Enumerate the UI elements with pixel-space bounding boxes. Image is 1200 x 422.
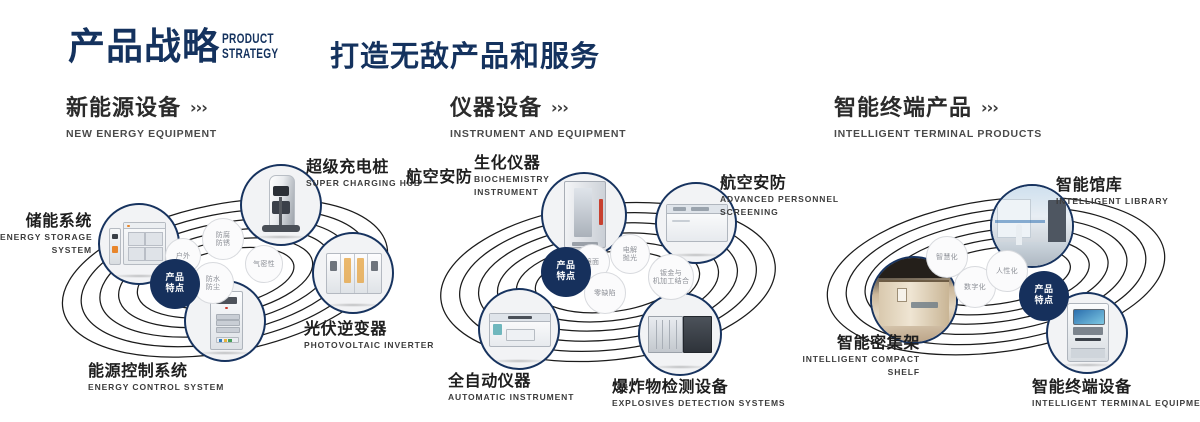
core-badge-product-features: 产品 特点 — [151, 260, 199, 308]
node-label-en-line2: INSTRUMENT — [474, 187, 550, 198]
node-label-en-line2: SHELF — [740, 367, 920, 378]
node-label-super-charging-hub: 超级充电桩 SUPER CHARGING HUB — [306, 158, 421, 189]
node-explosives-detection-systems[interactable] — [638, 292, 722, 376]
core-badge-line1: 产品 — [1034, 285, 1053, 296]
page-title-en: PRODUCT STRATEGY — [222, 31, 278, 61]
feature-label: 数字化 — [964, 283, 986, 292]
section-title-cn: 智能终端产品››› — [834, 96, 1042, 121]
label-cn: 航空安防 — [406, 168, 472, 186]
section-title-text: 仪器设备 — [450, 96, 542, 121]
cluster-new-energy: 储能系统 ENERGY STORAGE SYSTEM 超级充电桩 SUPER C… — [40, 150, 420, 400]
page-title: 产品战略 — [68, 26, 220, 68]
core-badge-line1: 产品 — [165, 273, 184, 284]
section-title-text: 新能源设备 — [66, 96, 181, 121]
feature-label-line2: 抛光 — [623, 254, 638, 263]
node-label-en-line1: EXPLOSIVES DETECTION SYSTEMS — [612, 398, 786, 409]
node-label-en-line1: INTELLIGENT TERMINAL EQUIPMENT — [1032, 398, 1200, 409]
core-badge-product-features: 产品 特点 — [1020, 272, 1068, 320]
node-label-energy-storage-system: 储能系统 ENERGY STORAGE SYSTEM — [0, 212, 92, 255]
node-label-cn: 爆炸物检测设备 — [612, 378, 786, 396]
node-photovoltaic-inverter[interactable] — [312, 232, 394, 314]
node-label-biochemistry-instrument: 生化仪器 BIOCHEMISTRY INSTRUMENT — [474, 154, 550, 197]
feature-label-line2: 防尘 — [206, 283, 221, 292]
chevron-triple-icon: ››› — [551, 96, 568, 120]
core-badge-line2: 特点 — [556, 272, 575, 283]
node-label-energy-control-system: 能源控制系统 ENERGY CONTROL SYSTEM — [88, 362, 224, 393]
feature-label-line1: 防腐 — [216, 231, 231, 240]
feature-label: 户外 — [176, 252, 191, 261]
node-automatic-instrument[interactable] — [478, 288, 560, 370]
chevron-triple-icon: ››› — [981, 96, 998, 120]
feature-label: 气密性 — [253, 260, 275, 269]
node-label-intelligent-library: 智能馆库 INTELLIGENT LIBRARY — [1056, 176, 1169, 207]
node-label-cn: 生化仪器 — [474, 154, 550, 172]
section-title-cn: 仪器设备››› — [450, 96, 626, 121]
feature-bubble-zero-defect: 零缺陷 — [584, 272, 626, 314]
lab-analyzer-icon — [480, 290, 558, 368]
section-heading-new-energy: 新能源设备››› NEW ENERGY EQUIPMENT — [66, 96, 217, 140]
chevron-triple-icon: ››› — [190, 96, 207, 120]
node-label-intelligent-compact-shelf: 智能密集架 INTELLIGENT COMPACT SHELF — [740, 334, 920, 377]
core-badge-product-features: 产品 特点 — [542, 248, 590, 296]
node-label-en-line1: ENERGY STORAGE — [0, 232, 92, 243]
node-label-cn: 超级充电桩 — [306, 158, 421, 176]
node-label-en-line1: BIOCHEMISTRY — [474, 174, 550, 185]
feature-label-line1: 电解 — [623, 246, 638, 255]
node-label-en-line2: SYSTEM — [0, 245, 92, 256]
core-badge-line1: 产品 — [556, 261, 575, 272]
node-label-cn: 智能馆库 — [1056, 176, 1169, 194]
node-label-cn: 全自动仪器 — [448, 372, 574, 390]
node-label-intelligent-terminal-equipment: 智能终端设备 INTELLIGENT TERMINAL EQUIPMENT — [1032, 378, 1200, 409]
feature-bubble-sheetmetal-machining: 钣金与 机加工结合 — [648, 254, 694, 300]
feature-bubble-anticorrosion: 防腐 防锈 — [202, 218, 244, 260]
feature-label-line2: 防锈 — [216, 239, 231, 248]
product-strategy-infographic: 产品战略 PRODUCT STRATEGY 打造无敌产品和服务 新能源设备›››… — [0, 0, 1200, 422]
node-label-automatic-instrument: 全自动仪器 AUTOMATIC INSTRUMENT — [448, 372, 574, 403]
feature-label: 零缺陷 — [594, 289, 616, 298]
section-title-en: INTELLIGENT TERMINAL PRODUCTS — [834, 128, 1042, 140]
cluster-intelligent-terminal: 智能馆库 INTELLIGENT LIBRARY 智能密集架 INTELLIGE… — [800, 150, 1200, 400]
node-label-cn: 智能密集架 — [740, 334, 920, 352]
feature-bubble-airtightness: 气密性 — [245, 245, 283, 283]
core-badge-line2: 特点 — [1034, 296, 1053, 307]
label-aviation-security-left: 航空安防 — [406, 168, 472, 186]
node-label-explosives-detection-systems: 爆炸物检测设备 EXPLOSIVES DETECTION SYSTEMS — [612, 378, 786, 409]
core-badge-line2: 特点 — [165, 284, 184, 295]
node-label-cn: 智能终端设备 — [1032, 378, 1200, 396]
inverter-cabinet-icon — [314, 234, 392, 312]
feature-bubble-electropolishing: 电解 抛光 — [610, 234, 650, 274]
node-label-en-line1: ENERGY CONTROL SYSTEM — [88, 382, 224, 393]
section-title-en: INSTRUMENT AND EQUIPMENT — [450, 128, 626, 140]
page-slogan: 打造无敌产品和服务 — [330, 33, 600, 75]
feature-label: 智慧化 — [936, 253, 958, 262]
detection-machine-icon — [640, 294, 720, 374]
page-title-en-line1: PRODUCT — [222, 31, 278, 46]
section-heading-instrument: 仪器设备››› INSTRUMENT AND EQUIPMENT — [450, 96, 626, 140]
section-heading-intelligent-terminal: 智能终端产品››› INTELLIGENT TERMINAL PRODUCTS — [834, 96, 1042, 140]
feature-label-line1: 防水 — [206, 275, 221, 284]
node-label-cn: 储能系统 — [0, 212, 92, 230]
node-label-en-line1: AUTOMATIC INSTRUMENT — [448, 392, 574, 403]
header-divider — [300, 24, 302, 70]
feature-label: 人性化 — [996, 267, 1018, 276]
feature-label-line2: 机加工结合 — [653, 277, 690, 286]
page-title-en-line2: STRATEGY — [222, 46, 278, 61]
node-label-en-line1: INTELLIGENT LIBRARY — [1056, 196, 1169, 207]
section-title-cn: 新能源设备››› — [66, 96, 217, 121]
section-title-text: 智能终端产品 — [834, 96, 972, 121]
section-title-en: NEW ENERGY EQUIPMENT — [66, 128, 217, 140]
page-header: 产品战略 PRODUCT STRATEGY 打造无敌产品和服务 — [0, 0, 1200, 88]
node-label-en-line1: INTELLIGENT COMPACT — [740, 354, 920, 365]
node-label-en-line1: SUPER CHARGING HUB — [306, 178, 421, 189]
feature-label-line1: 钣金与 — [653, 269, 690, 278]
node-label-cn: 能源控制系统 — [88, 362, 224, 380]
